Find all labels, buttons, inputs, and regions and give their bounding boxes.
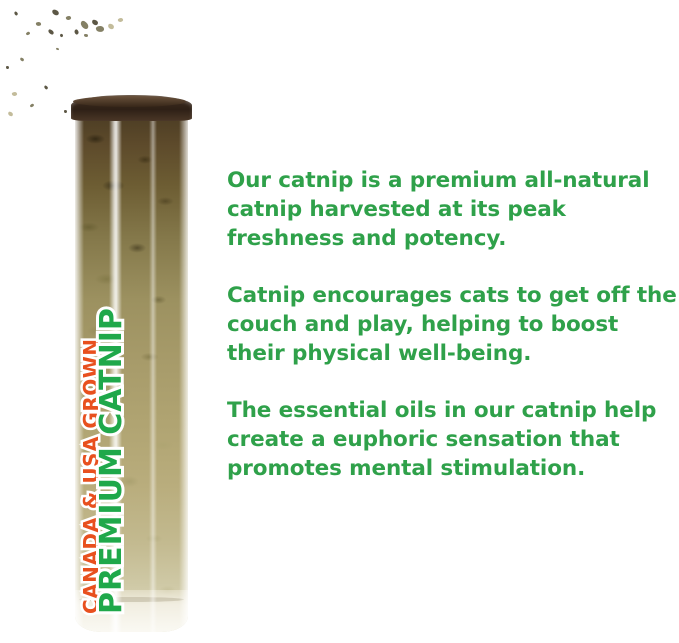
catnip-flake <box>44 85 49 90</box>
catnip-flake <box>96 25 105 32</box>
tube-cap <box>71 95 192 121</box>
catnip-flake <box>65 15 71 21</box>
catnip-flake <box>47 29 54 35</box>
catnip-flake <box>56 48 59 50</box>
glass-edge-right <box>179 113 188 632</box>
catnip-flake <box>84 34 88 37</box>
catnip-flake <box>7 111 13 116</box>
catnip-flake <box>26 31 31 36</box>
marketing-copy: Our catnip is a premium all-natural catn… <box>227 166 679 483</box>
glass-highlight-secondary <box>149 113 157 632</box>
tube-glass-body <box>75 113 188 632</box>
glass-highlight-primary <box>109 113 122 632</box>
catnip-flake <box>51 9 59 16</box>
tube-cap-rim <box>73 96 186 107</box>
catnip-flake <box>20 57 25 61</box>
catnip-tube-product <box>75 95 188 632</box>
copy-paragraph-1: Our catnip is a premium all-natural catn… <box>227 166 679 253</box>
catnip-flake <box>6 66 9 69</box>
catnip-flake <box>36 21 42 26</box>
catnip-flake <box>107 23 114 29</box>
catnip-flake <box>92 19 99 25</box>
catnip-flake <box>73 29 79 35</box>
catnip-flake <box>60 34 64 38</box>
copy-paragraph-2: Catnip encourages cats to get off the co… <box>227 281 679 368</box>
catnip-flake <box>30 103 35 108</box>
catnip-contents <box>75 113 188 632</box>
catnip-flake <box>11 91 17 96</box>
catnip-flake <box>14 11 19 16</box>
catnip-flake <box>64 110 67 113</box>
glass-edge-left <box>75 113 84 632</box>
product-marketing-image: CANADA & USA GROWN PREMIUM CATNIP Our ca… <box>0 0 679 643</box>
catnip-flake <box>79 20 90 30</box>
catnip-flake <box>117 17 123 23</box>
copy-paragraph-3: The essential oils in our catnip help cr… <box>227 396 679 483</box>
tube-base-rim <box>79 597 184 602</box>
